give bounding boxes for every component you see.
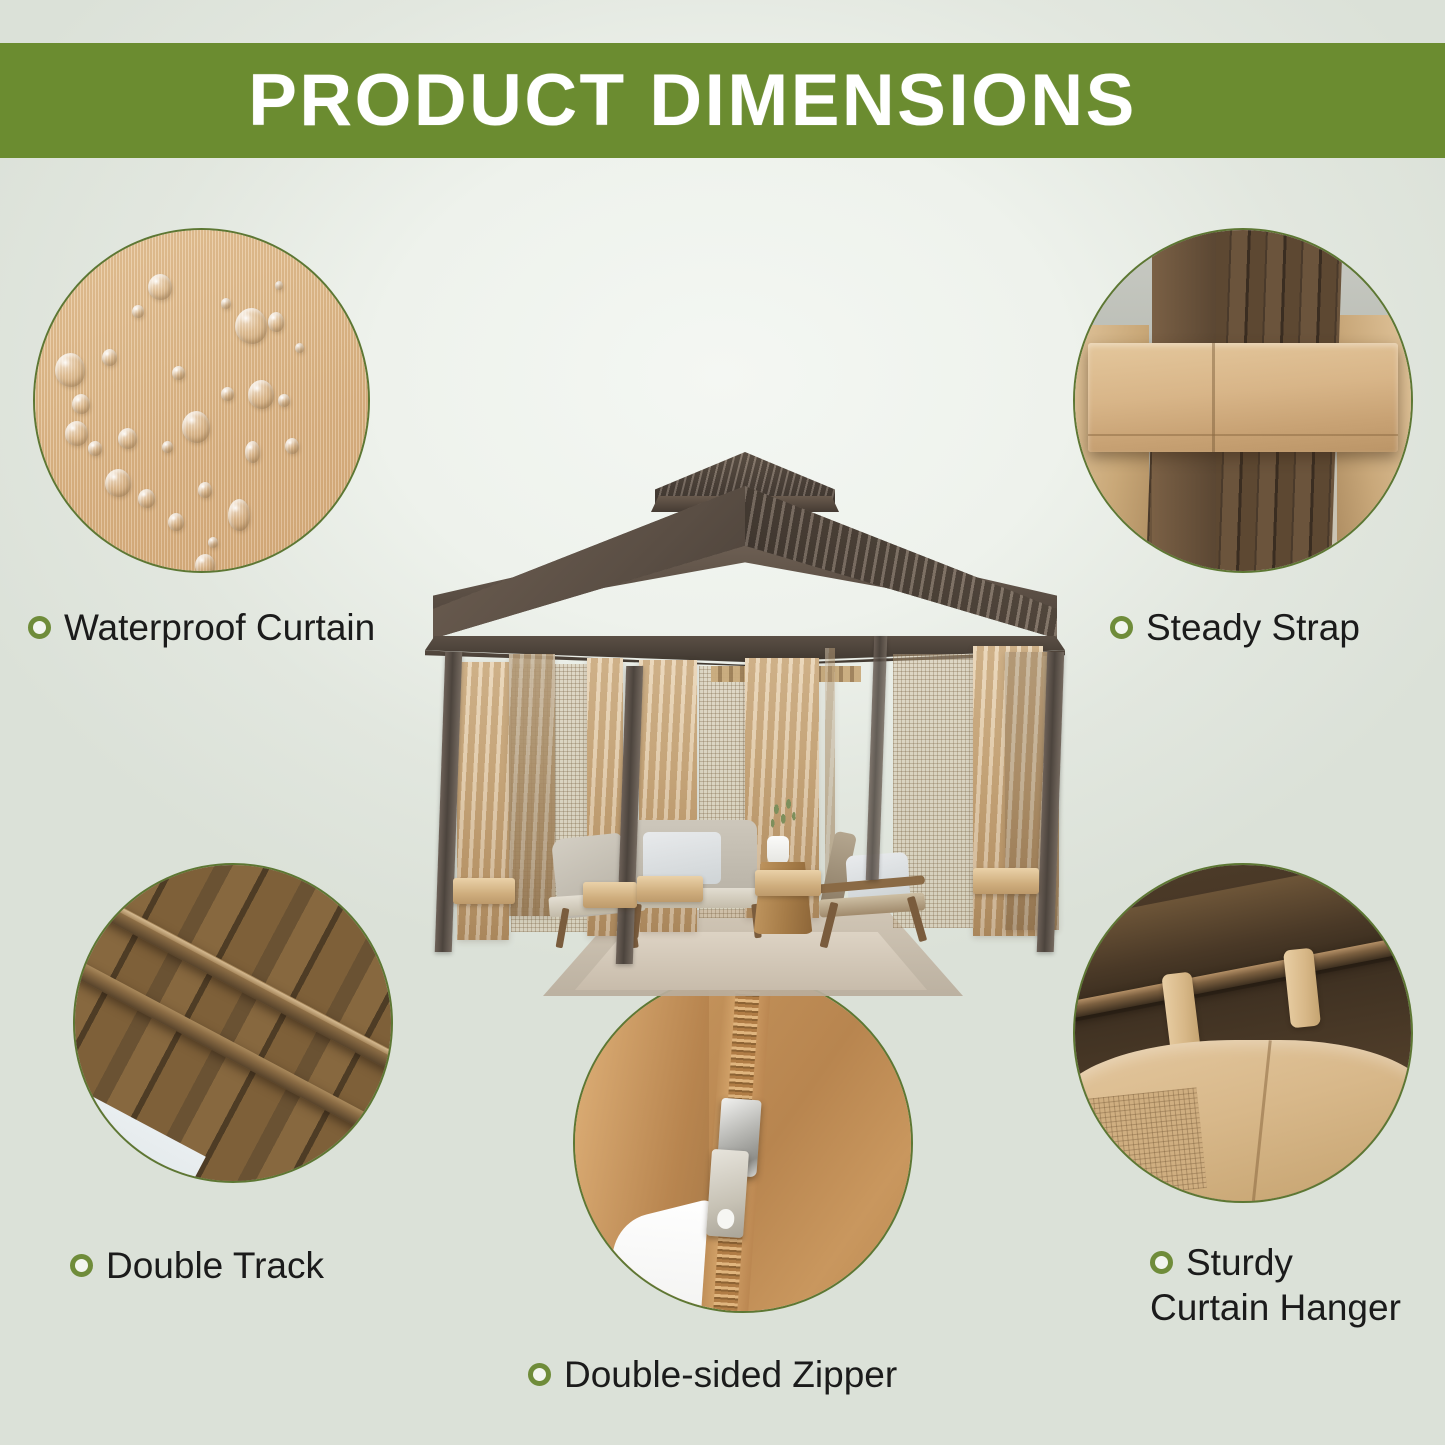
water-droplet (72, 394, 90, 414)
page-title: PRODUCT DIMENSIONS (248, 64, 1137, 137)
water-droplet (162, 441, 173, 453)
water-droplet (195, 554, 215, 573)
water-droplet (228, 499, 250, 531)
double-track-caption: Double Track (70, 1243, 324, 1288)
bullet-icon (528, 1363, 551, 1386)
sturdy-curtain-hanger-image (1073, 863, 1413, 1203)
steady-strap-image (1073, 228, 1413, 573)
hanger-label-line2: Curtain Hanger (1150, 1285, 1401, 1330)
water-droplet (248, 380, 274, 409)
double-sided-zipper-caption: Double-sided Zipper (528, 1352, 897, 1397)
double-track-label: Double Track (106, 1243, 324, 1288)
bullet-icon (70, 1254, 93, 1277)
gazebo-post-back (866, 636, 888, 880)
water-droplet (285, 438, 299, 454)
curtain-tieback (637, 876, 703, 902)
water-droplet (198, 482, 212, 498)
gazebo-product-image (415, 440, 1075, 960)
water-droplet (105, 469, 131, 497)
water-droplet (55, 353, 85, 387)
curtain-tieback (755, 870, 821, 896)
potted-plant (765, 796, 803, 840)
water-droplet (182, 411, 210, 443)
sturdy-curtain-hanger-label: Sturdy Curtain Hanger (1186, 1240, 1401, 1330)
water-droplet (138, 489, 155, 508)
water-droplet (221, 387, 234, 401)
water-droplet (65, 421, 88, 446)
double-track-image (73, 863, 393, 1183)
water-droplet (102, 349, 117, 366)
curtain-tieback (973, 868, 1039, 894)
water-droplet (278, 394, 290, 407)
zipper-pull-tab (706, 1149, 749, 1239)
infographic-page: PRODUCT DIMENSIONS (0, 0, 1445, 1445)
bullet-icon (28, 616, 51, 639)
waterproof-curtain-label: Waterproof Curtain (64, 605, 375, 650)
steady-strap-caption: Steady Strap (1110, 605, 1360, 650)
bullet-icon (1150, 1251, 1173, 1274)
double-sided-zipper-label: Double-sided Zipper (564, 1352, 897, 1397)
water-droplet (208, 537, 218, 548)
water-droplet (245, 441, 260, 463)
privacy-curtain (509, 654, 555, 916)
sturdy-curtain-hanger-caption: Sturdy Curtain Hanger (1150, 1240, 1440, 1330)
water-droplet (168, 513, 184, 531)
hanger-label-line1: Sturdy (1186, 1242, 1293, 1283)
water-droplet (172, 366, 185, 380)
steady-strap-label: Steady Strap (1146, 605, 1360, 650)
strap-cuff (1088, 343, 1397, 452)
water-droplet (118, 428, 137, 449)
vase (767, 836, 789, 866)
curtain-tieback (583, 882, 637, 908)
waterproof-curtain-caption: Waterproof Curtain (28, 605, 375, 650)
double-sided-zipper-image (573, 973, 913, 1313)
bullet-icon (1110, 616, 1133, 639)
callout-sturdy-curtain-hanger: Sturdy Curtain Hanger (0, 0, 340, 340)
mesh-netting (1083, 1088, 1207, 1200)
curtain-tieback (453, 878, 515, 904)
